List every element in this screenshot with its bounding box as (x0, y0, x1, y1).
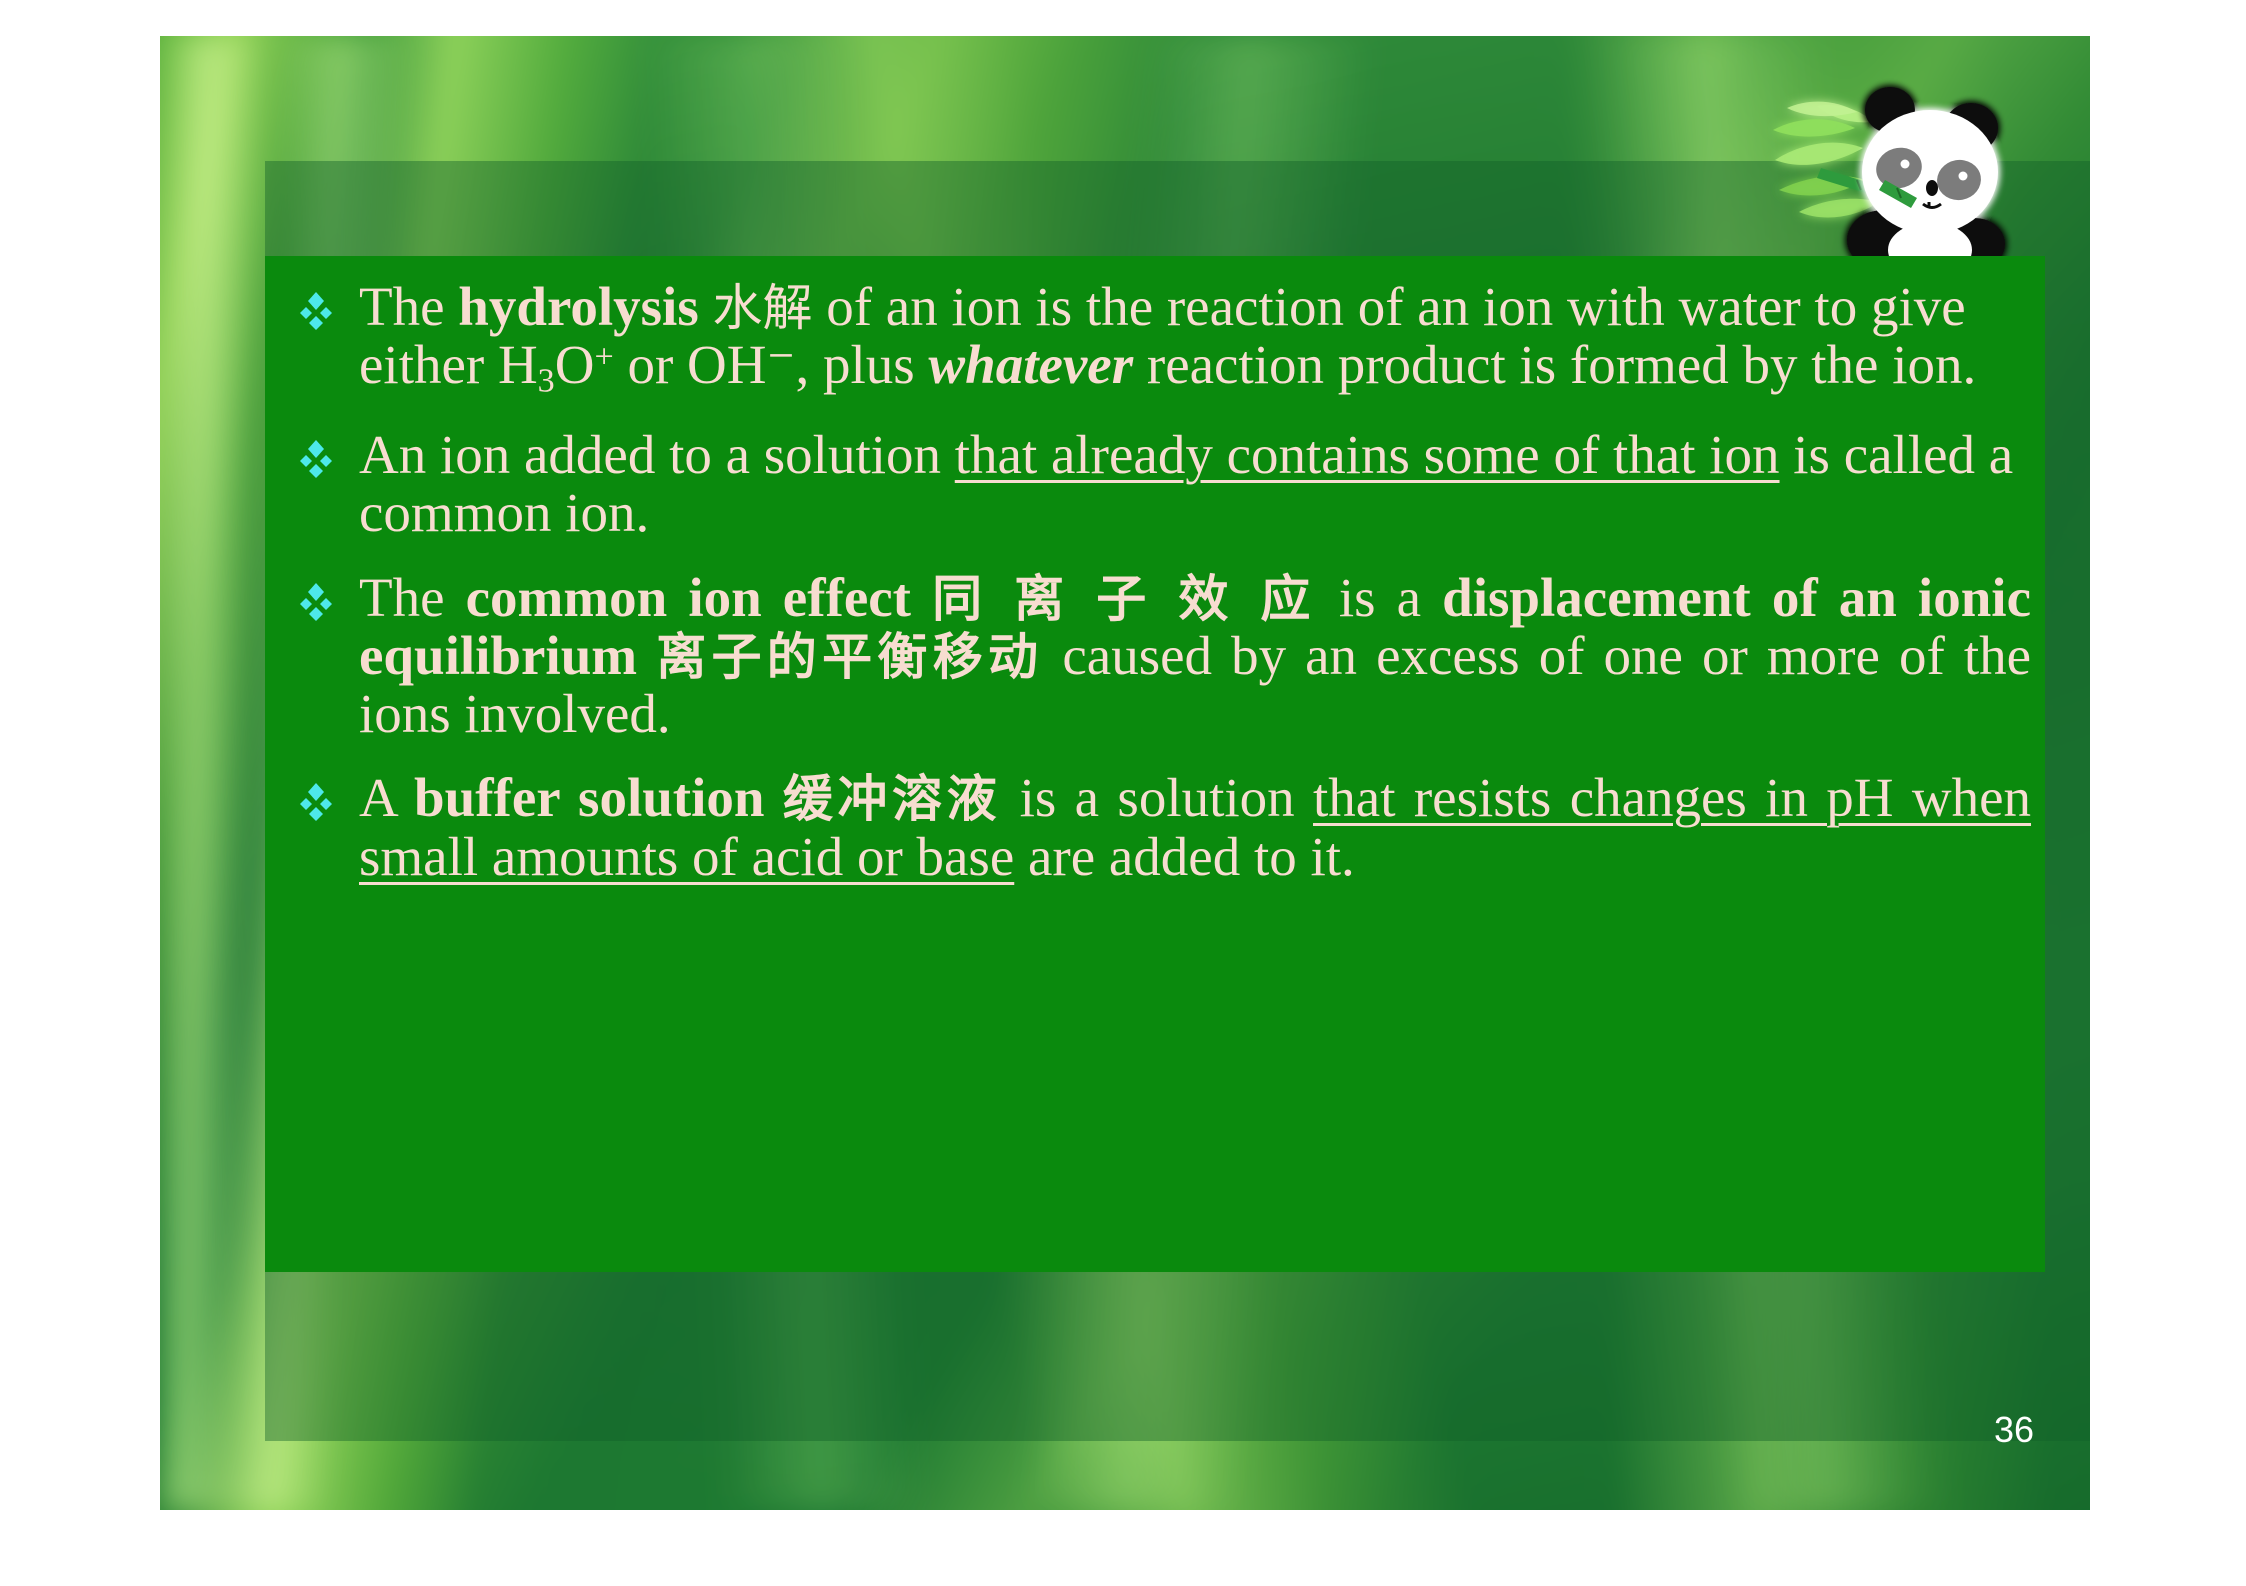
bullet-item-buffer-solution: A buffer solution 缓冲溶液 is a solution tha… (265, 769, 2045, 886)
b4-run-2: is a solution (1001, 767, 1313, 828)
b3-bold-common-ion-effect: common ion effect (466, 567, 911, 628)
bullet-3-text: The common ion effect 同 离 子 效 应 is a dis… (359, 567, 2031, 745)
diamond-cluster-bullet-icon (299, 292, 333, 330)
bullet-1-text: The hydrolysisThe 水解 of an ion is the re… (359, 276, 1976, 395)
b1-bold-hydrolysis: hydrolysis (458, 276, 698, 337)
b1-superscript-plus: + (594, 339, 613, 376)
b3-run-2: is a (1318, 567, 1442, 628)
diamond-cluster-bullet-icon (299, 583, 333, 621)
b1-run-4: or OH (614, 334, 767, 395)
bullet-item-hydrolysis: The hydrolysisThe 水解 of an ion is the re… (265, 278, 2045, 400)
b3-cjk-displacement-part2: 动 (988, 628, 1043, 686)
diamond-cluster-bullet-icon (299, 440, 333, 478)
b1-run-6: reaction product is formed by the ion. (1133, 334, 1976, 395)
b4-cjk-buffer-solution: 缓冲溶液 (783, 770, 1001, 828)
b4-run-3: are added to it. (1014, 826, 1355, 887)
b3-cjk-common-ion-effect: 同 离 子 效 应 (932, 570, 1318, 628)
slide-canvas: The hydrolysisThe 水解 of an ion is the re… (160, 36, 2090, 1510)
bullet-item-common-ion-effect: The common ion effect 同 离 子 效 应 is a dis… (265, 569, 2045, 744)
page-number: 36 (1994, 1412, 2034, 1448)
b4-run-1: A (359, 767, 414, 828)
bullet-4-text: A buffer solution 缓冲溶液 is a solution tha… (359, 767, 2031, 886)
bullet-2-text: An ion added to a solution that already … (359, 424, 2013, 543)
b4-bold-buffer-solution: buffer solution (414, 767, 764, 828)
b2-run-1: An ion added to a solution (359, 424, 955, 485)
b1-cjk-hydrolysis: 水解 (712, 279, 812, 337)
b1-minus-sign: ⁻ (766, 334, 795, 395)
b2-underlined-definition: that already contains some of that ion (955, 424, 1780, 485)
b3-cjk-displacement-part1: 离子的平衡移 (656, 628, 988, 686)
b1-run-5: , plus (795, 334, 928, 395)
b1-subscript-3: 3 (538, 363, 555, 400)
bullet-item-common-ion: An ion added to a solution that already … (265, 426, 2045, 543)
panda-eating-bamboo-icon (1765, 72, 2023, 272)
b1-run-3: O (555, 334, 595, 395)
diamond-cluster-bullet-icon (299, 783, 333, 821)
b1-run-1: The (359, 276, 458, 337)
b1-bolditalic-whatever: whatever (928, 334, 1133, 395)
b3-run-1: The (359, 567, 466, 628)
content-text-box: The hydrolysisThe 水解 of an ion is the re… (265, 256, 2045, 1272)
